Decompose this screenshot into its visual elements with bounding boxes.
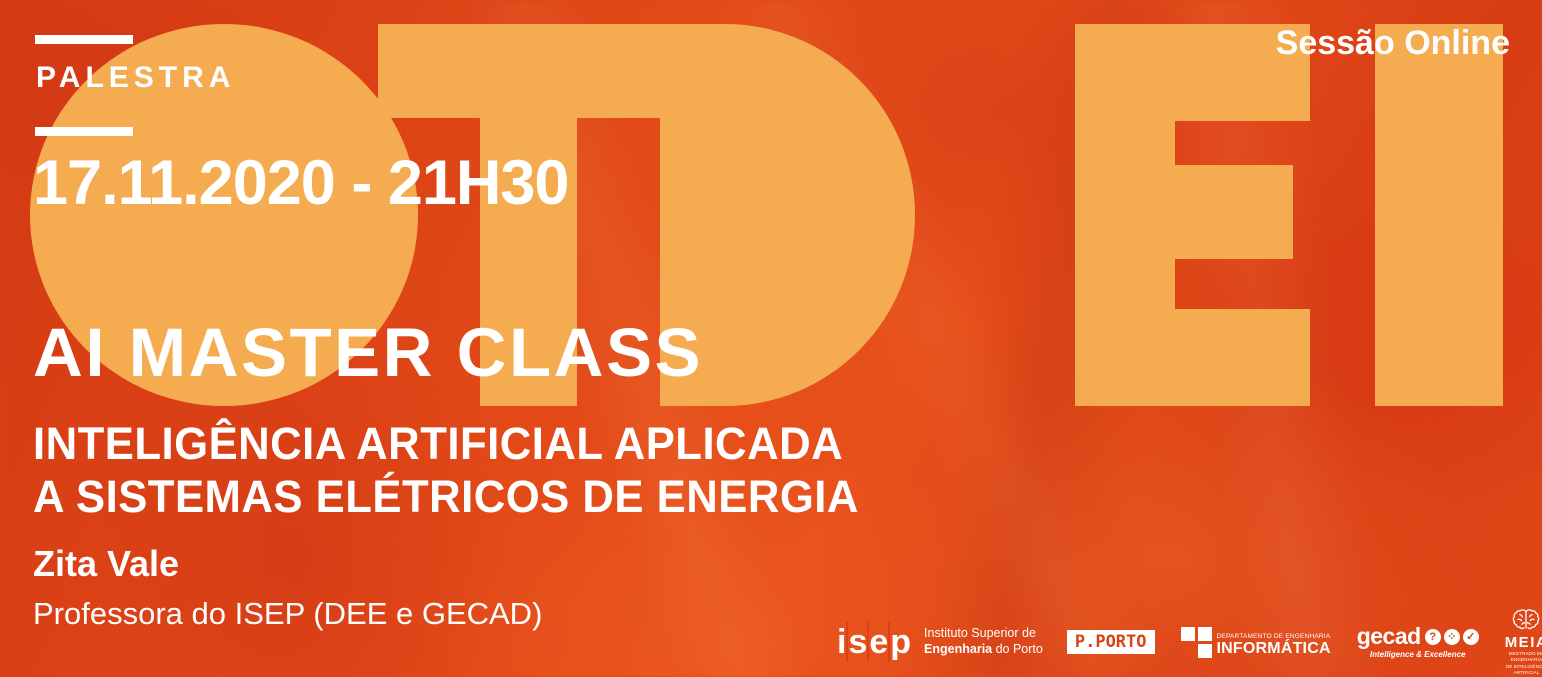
logo-meia: MEIA MESTRADO EM ENGENHARIA DE INTELIGÊN… [1505,608,1542,676]
gecad-circle-icons: ? ⁘ ✓ [1425,629,1479,645]
kicker-rule-bottom [35,127,133,136]
isep-name-line-1: Instituto Superior de [924,626,1043,642]
gecad-check-icon: ✓ [1463,629,1479,645]
event-subtitle-line-1: INTELIGÊNCIA ARTIFICIAL APLICADA [33,418,859,471]
event-banner: PALESTRA Sessão Online 17.11.2020 - 21H3… [0,0,1542,677]
meia-wordmark: MEIA [1505,635,1542,650]
dei-wordmark: DEPARTAMENTO DE ENGENHARIA INFORMÁTICA [1217,634,1331,658]
event-subtitle: INTELIGÊNCIA ARTIFICIAL APLICADA A SISTE… [33,418,859,523]
gecad-wordmark: gecad [1357,625,1421,648]
logo-gecad: gecad ? ⁘ ✓ Intelligence & Excellence [1357,625,1479,659]
logo-dei-informatica: DEPARTAMENTO DE ENGENHARIA INFORMÁTICA [1181,627,1331,658]
isep-wordmark: isep [835,625,915,659]
event-subtitle-line-2: A SISTEMAS ELÉTRICOS DE ENERGIA [33,471,859,524]
event-datetime: 17.11.2020 - 21H30 [33,152,568,215]
gecad-tagline: Intelligence & Excellence [1357,650,1479,659]
isep-name-line-2: Engenharia do Porto [924,642,1043,658]
sponsor-logo-strip: isep Instituto Superior de Engenharia do… [835,612,1535,672]
meia-subtitle-line-1: MESTRADO EM ENGENHARIA [1505,651,1542,663]
isep-name-bold: Engenharia [924,642,992,656]
logo-pporto: P.PORTO [1067,630,1155,654]
isep-name-rest: do Porto [992,642,1043,656]
kicker-label: PALESTRA [36,63,235,93]
session-badge: Sessão Online [1276,26,1510,60]
isep-wordmark-text: isep [837,623,913,661]
logo-isep: isep Instituto Superior de Engenharia do… [835,625,1043,659]
meia-subtitle: MESTRADO EM ENGENHARIA DE INTELIGÊNCIA A… [1505,651,1542,676]
gecad-dots-icon: ⁘ [1444,629,1460,645]
speaker-name: Zita Vale [33,546,179,582]
gecad-question-icon: ? [1425,629,1441,645]
meia-subtitle-line-2: DE INTELIGÊNCIA ARTIFICIAL [1505,664,1542,676]
brain-icon [1511,608,1541,634]
dei-name-label: INFORMÁTICA [1217,641,1331,658]
page-title: AI MASTER CLASS [33,318,703,387]
dei-squares-icon [1181,627,1212,658]
session-badge-light: Sessão [1276,24,1395,62]
speaker-role: Professora do ISEP (DEE e GECAD) [33,598,542,629]
isep-full-name: Instituto Superior de Engenharia do Port… [924,626,1043,657]
session-badge-heavy: Online [1404,24,1510,62]
kicker-rule-top [35,35,133,44]
